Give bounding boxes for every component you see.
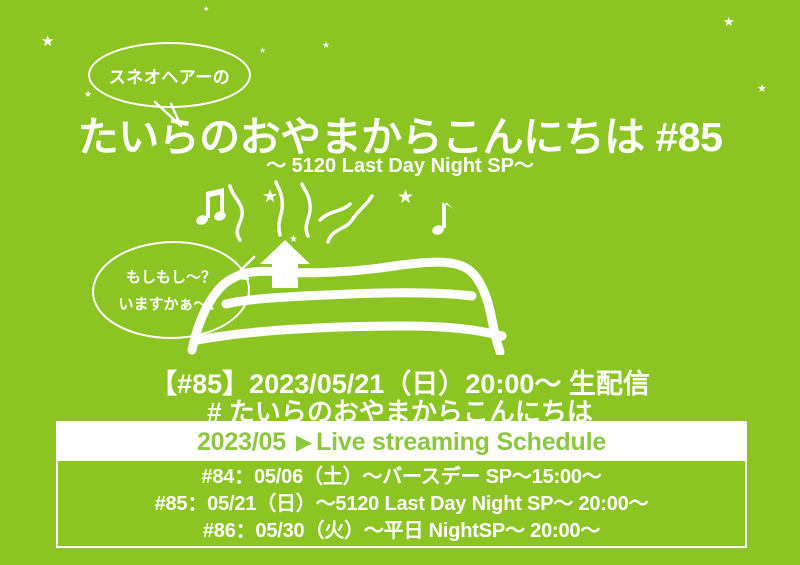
star-icon: ★ [757,84,767,95]
music-note-double-icon [195,188,227,226]
steam-squiggle [302,184,310,236]
star-icon: ★ [259,47,266,55]
page-subtitle: 〜 5120 Last Day Night SP〜 [0,149,800,178]
star-icon: ★ [84,90,92,99]
list-item: #84：05/06（土）〜バースデー SP〜15:00〜 [58,464,745,491]
schedule-banner-label: Live streaming Schedule [316,428,606,457]
steam-squiggle [320,204,350,220]
poster-canvas: ★ ★ ★ ★ ★ ★ ★ ★ ★ ★ スネオヘアーの たいらのおやまからこんに… [0,0,800,565]
schedule-panel: 2023/05 ▶ Live streaming Schedule #84：05… [56,421,747,548]
schedule-banner: 2023/05 ▶ Live streaming Schedule [58,423,745,461]
schedule-list: #84：05/06（土）〜バースデー SP〜15:00〜 #85：05/21（日… [58,461,745,545]
star-icon: ★ [203,6,209,13]
steam-squiggle [276,182,282,235]
list-item: #85：05/21（日）〜5120 Last Day Night SP〜 20:… [58,491,745,518]
list-item: #86：05/30（火）〜平日 NightSP〜 20:00〜 [58,518,745,545]
mountain-contour-1 [226,293,472,304]
mountain-ridge [192,262,500,352]
schedule-month: 2023/05 [197,428,286,457]
mountain-illustration [180,180,620,355]
speech-bubble-top: スネオヘアーの [88,42,251,108]
up-arrow-icon [260,240,310,288]
mountain-contour-2 [198,326,502,340]
star-icon: ★ [723,15,735,28]
star-icon: ★ [322,41,330,50]
play-triangle-icon: ▶ [296,432,312,453]
star-icon: ★ [41,34,54,49]
speech-bubble-top-text: スネオヘアーの [109,63,230,88]
music-note-single-icon [431,202,456,236]
steam-squiggle [230,186,242,240]
